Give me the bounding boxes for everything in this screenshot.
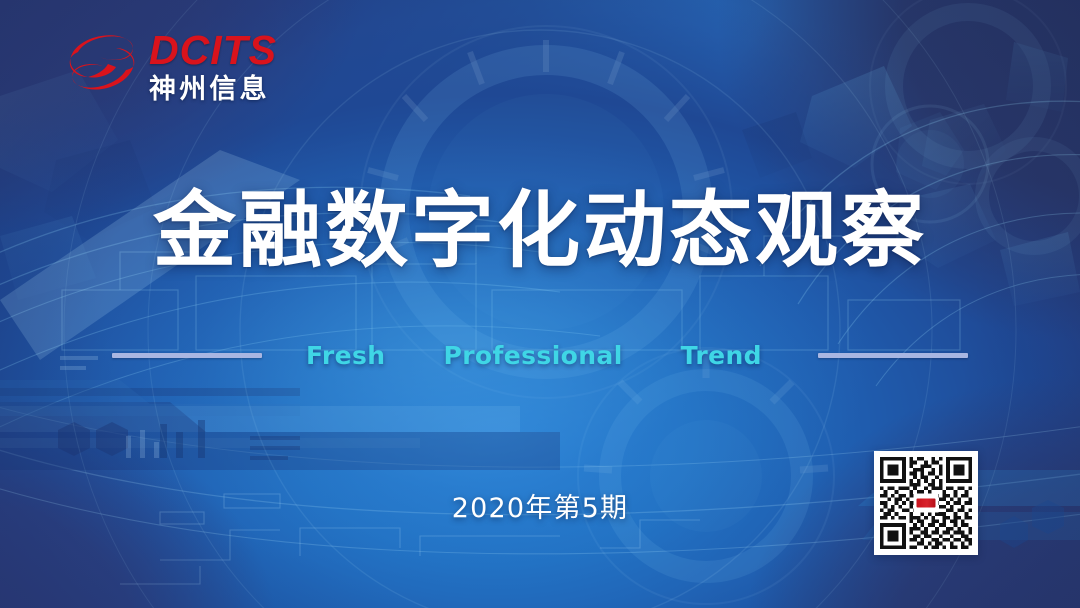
decorative-rule-left <box>112 353 262 358</box>
logo-chinese-name: 神州信息 <box>149 76 277 103</box>
board-silhouette-bottom-left <box>0 380 560 470</box>
stripe-band-midleft <box>0 388 520 448</box>
dcits-logo-qr-center <box>914 494 939 513</box>
qr-code[interactable] <box>874 451 978 555</box>
logo-english-name: DCITS <box>149 30 277 71</box>
brand-logo: DCITS 神州信息 <box>66 28 277 103</box>
decorative-rule-right <box>818 353 968 358</box>
keyword-professional: Professional <box>443 341 622 370</box>
keyword-fresh: Fresh <box>306 341 385 370</box>
qr-canvas <box>880 457 972 549</box>
keyword-row: Fresh Professional Trend <box>0 338 1080 372</box>
poster-slide: DCITS 神州信息 金融数字化动态观察 Fresh Professional … <box>0 0 1080 608</box>
keyword-trend: Trend <box>681 341 762 370</box>
gear-ring-bottom-right <box>578 348 834 604</box>
dcits-swoosh-icon <box>66 30 140 102</box>
page-title: 金融数字化动态观察 <box>0 186 1080 276</box>
logo-wordmark: DCITS 神州信息 <box>149 28 277 103</box>
